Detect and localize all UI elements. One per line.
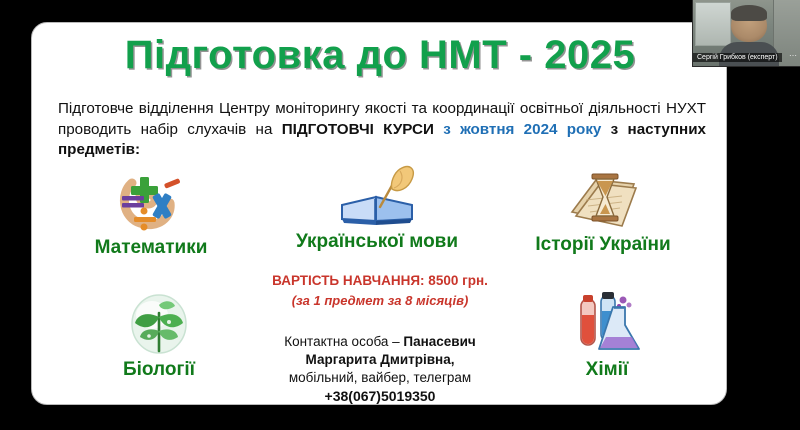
subject-label-chemistry: Хімії xyxy=(502,359,712,381)
book-quill-icon xyxy=(272,165,482,227)
contact-person-surname: Панасевич xyxy=(403,334,475,349)
presentation-screen: Підготовка до НМТ - 2025 Підготовче відд… xyxy=(0,0,800,430)
intro-text-courses-bold: ПІДГОТОВЧІ КУРСИ xyxy=(282,121,434,138)
participant-name-label: Сергій Грибков (експерт) xyxy=(693,53,782,62)
page-title: Підготовка до НМТ - 2025 xyxy=(32,33,727,78)
participant-video-tile[interactable]: Сергій Грибков (експерт) ⋯ xyxy=(692,0,800,67)
intro-paragraph: Підготовче відділення Центру моніторингу… xyxy=(58,99,706,161)
subject-item-math: Математики xyxy=(46,171,256,259)
contact-channels: мобільний, вайбер, телеграм xyxy=(230,369,530,387)
subject-label-history: Історії України xyxy=(498,234,708,256)
tuition-price-note: (за 1 предмет за 8 місяців) xyxy=(230,293,530,308)
subject-label-ukrainian: Української мови xyxy=(272,231,482,253)
contact-phone-number: +38(067)5019350 xyxy=(230,387,530,405)
subject-label-math: Математики xyxy=(46,237,256,259)
window-background-icon xyxy=(695,2,731,46)
intro-text-date-highlight: з жовтня 2024 року xyxy=(434,121,601,138)
contact-block: Контактна особа – Панасевич Маргарита Дм… xyxy=(230,333,530,405)
video-menu-dots-icon[interactable]: ⋯ xyxy=(789,51,798,60)
subject-item-ukrainian: Української мови xyxy=(272,165,482,253)
tuition-price-main: ВАРТІСТЬ НАВЧАННЯ: 8500 грн. xyxy=(230,273,530,288)
contact-person-fullname: Маргарита Дмитрівна, xyxy=(230,351,530,369)
math-symbols-icon xyxy=(46,171,256,233)
slide-card: Підготовка до НМТ - 2025 Підготовче відд… xyxy=(31,22,727,405)
tuition-price-block: ВАРТІСТЬ НАВЧАННЯ: 8500 грн. (за 1 предм… xyxy=(230,273,530,308)
subject-item-chemistry: Хімії xyxy=(502,293,712,381)
participant-hair xyxy=(731,5,767,21)
contact-person-prefix: Контактна особа – xyxy=(284,334,403,349)
subject-item-history: Історії України xyxy=(498,168,708,256)
contact-person-line: Контактна особа – Панасевич xyxy=(230,333,530,351)
test-tubes-flask-icon xyxy=(502,293,712,355)
hourglass-scroll-icon xyxy=(498,168,708,230)
